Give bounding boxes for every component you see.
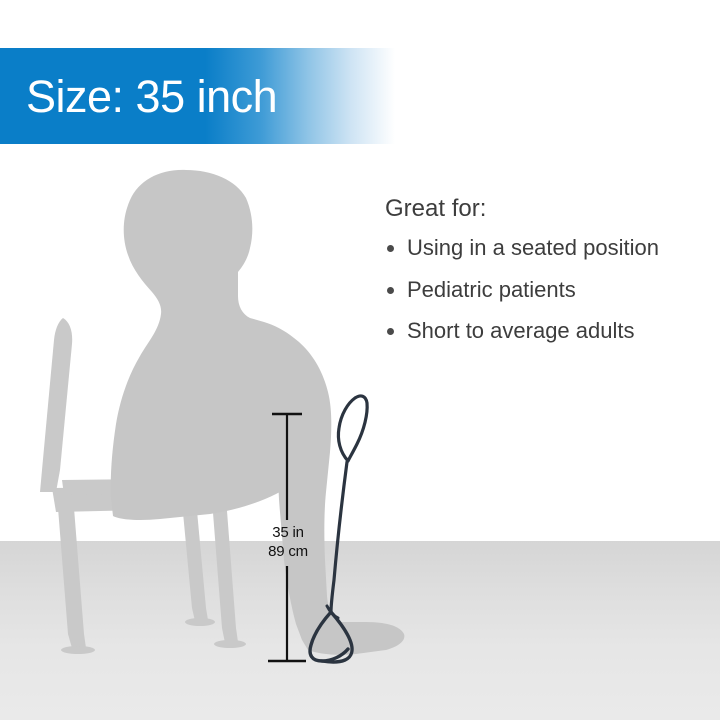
size-banner: Size: 35 inch — [0, 48, 395, 144]
list-item-label: Short to average adults — [407, 318, 634, 343]
list-item-label: Using in a seated position — [407, 235, 659, 260]
banner-title: Size: 35 inch — [0, 74, 277, 119]
list-item-label: Pediatric patients — [407, 277, 576, 302]
bullet-icon — [387, 245, 394, 252]
bullet-icon — [387, 287, 394, 294]
product-size-infographic: Size: 35 inch 35 in 89 cm Great for: Usi… — [0, 0, 720, 720]
dimension-centimeters: 89 cm — [262, 542, 314, 561]
benefits-list: Using in a seated position Pediatric pat… — [385, 236, 685, 343]
floor-surface — [0, 541, 720, 720]
benefits-block: Great for: Using in a seated position Pe… — [385, 196, 685, 360]
list-item: Short to average adults — [385, 319, 685, 343]
bullet-icon — [387, 328, 394, 335]
list-item: Pediatric patients — [385, 278, 685, 302]
dimension-inches: 35 in — [262, 523, 314, 542]
list-item: Using in a seated position — [385, 236, 685, 260]
dimension-label: 35 in 89 cm — [262, 523, 314, 561]
benefits-heading: Great for: — [385, 196, 685, 222]
silhouette-profile-cutouts — [232, 228, 257, 300]
